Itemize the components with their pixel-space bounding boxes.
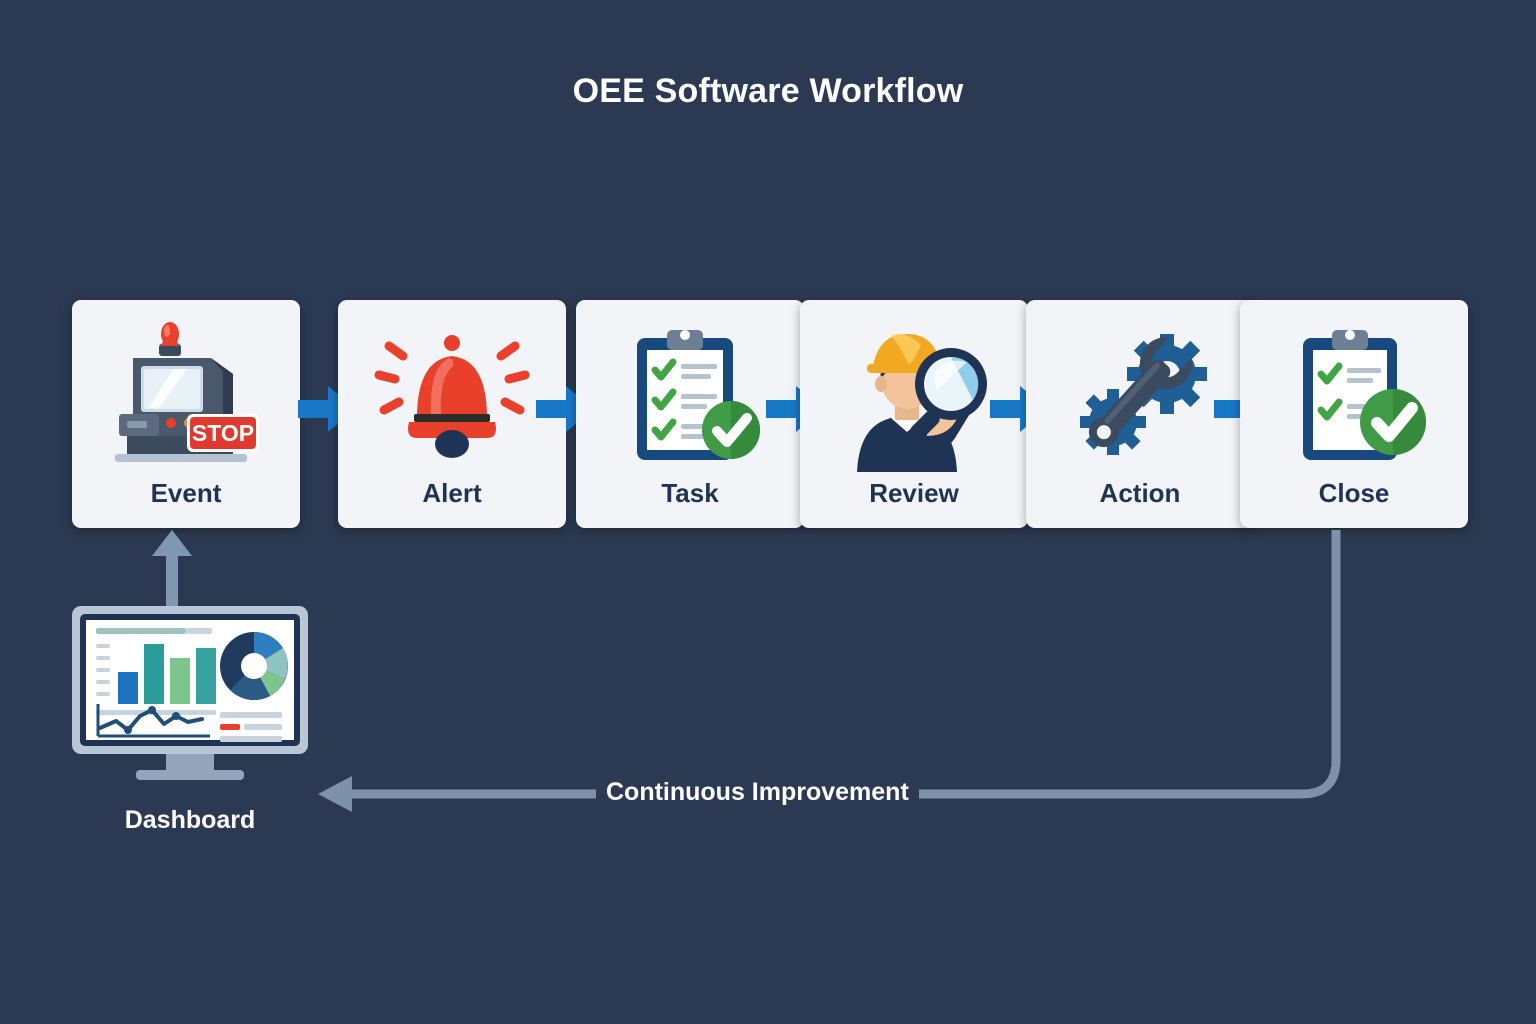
step-card-event[interactable]: STOP Event <box>72 300 300 528</box>
svg-text:STOP: STOP <box>192 420 254 446</box>
dashboard-label: Dashboard <box>70 806 310 835</box>
clipboard-checklist-icon <box>605 322 775 472</box>
page-title: OEE Software Workflow <box>0 72 1536 111</box>
monitor-dashboard-icon[interactable] <box>70 604 310 784</box>
diagram-canvas: OEE Software Workflow <box>0 0 1536 1024</box>
machine-stop-icon: STOP <box>101 322 271 472</box>
continuous-improvement-label: Continuous Improvement <box>596 778 919 807</box>
step-card-close[interactable]: Close <box>1240 300 1468 528</box>
dashboard-to-event-arrow-icon <box>150 528 194 608</box>
step-card-alert[interactable]: Alert <box>338 300 566 528</box>
clipboard-check-icon <box>1269 322 1439 472</box>
step-label: Action <box>1100 478 1181 509</box>
wrench-gears-icon <box>1055 322 1225 472</box>
step-label: Task <box>661 478 718 509</box>
step-label: Alert <box>422 478 481 509</box>
step-label: Event <box>151 478 222 509</box>
step-label: Review <box>869 478 959 509</box>
inspector-magnifier-icon <box>829 322 999 472</box>
step-label: Close <box>1319 478 1390 509</box>
ringing-bell-icon <box>367 322 537 472</box>
